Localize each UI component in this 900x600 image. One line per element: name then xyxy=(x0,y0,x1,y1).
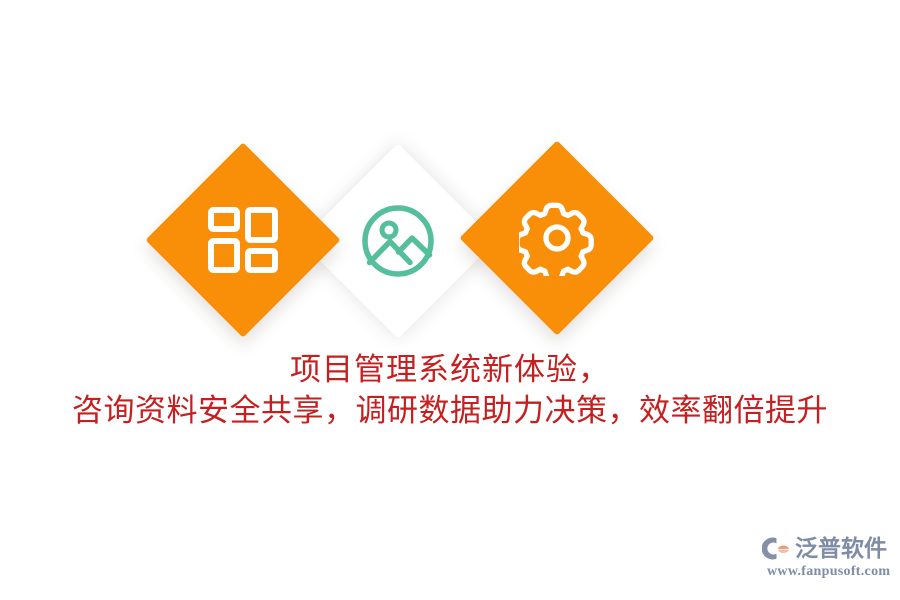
fanpu-arc-logo-icon xyxy=(762,536,792,561)
logo-brand-name: 泛普软件 xyxy=(795,536,887,561)
brand-logo[interactable]: 泛普软件 www.fanpusoft.com xyxy=(762,533,894,585)
headline: 项目管理系统新体验， 咨询资料安全共享，调研数据助力决策，效率翻倍提升 xyxy=(0,349,900,431)
diamond-tile-cluster xyxy=(0,0,900,360)
dashboard-tile[interactable] xyxy=(145,142,340,337)
gear-settings-icon xyxy=(519,200,595,276)
grid-dashboard-icon xyxy=(206,203,280,277)
settings-tile[interactable] xyxy=(459,140,654,335)
headline-line-1: 项目管理系统新体验， xyxy=(0,349,900,390)
logo-row: 泛普软件 xyxy=(762,533,887,563)
image-picture-icon xyxy=(359,202,437,280)
headline-line-2: 咨询资料安全共享，调研数据助力决策，效率翻倍提升 xyxy=(0,390,900,431)
logo-website-url: www.fanpusoft.com xyxy=(767,564,890,580)
promo-banner: 项目管理系统新体验， 咨询资料安全共享，调研数据助力决策，效率翻倍提升 泛普软件… xyxy=(0,0,900,600)
